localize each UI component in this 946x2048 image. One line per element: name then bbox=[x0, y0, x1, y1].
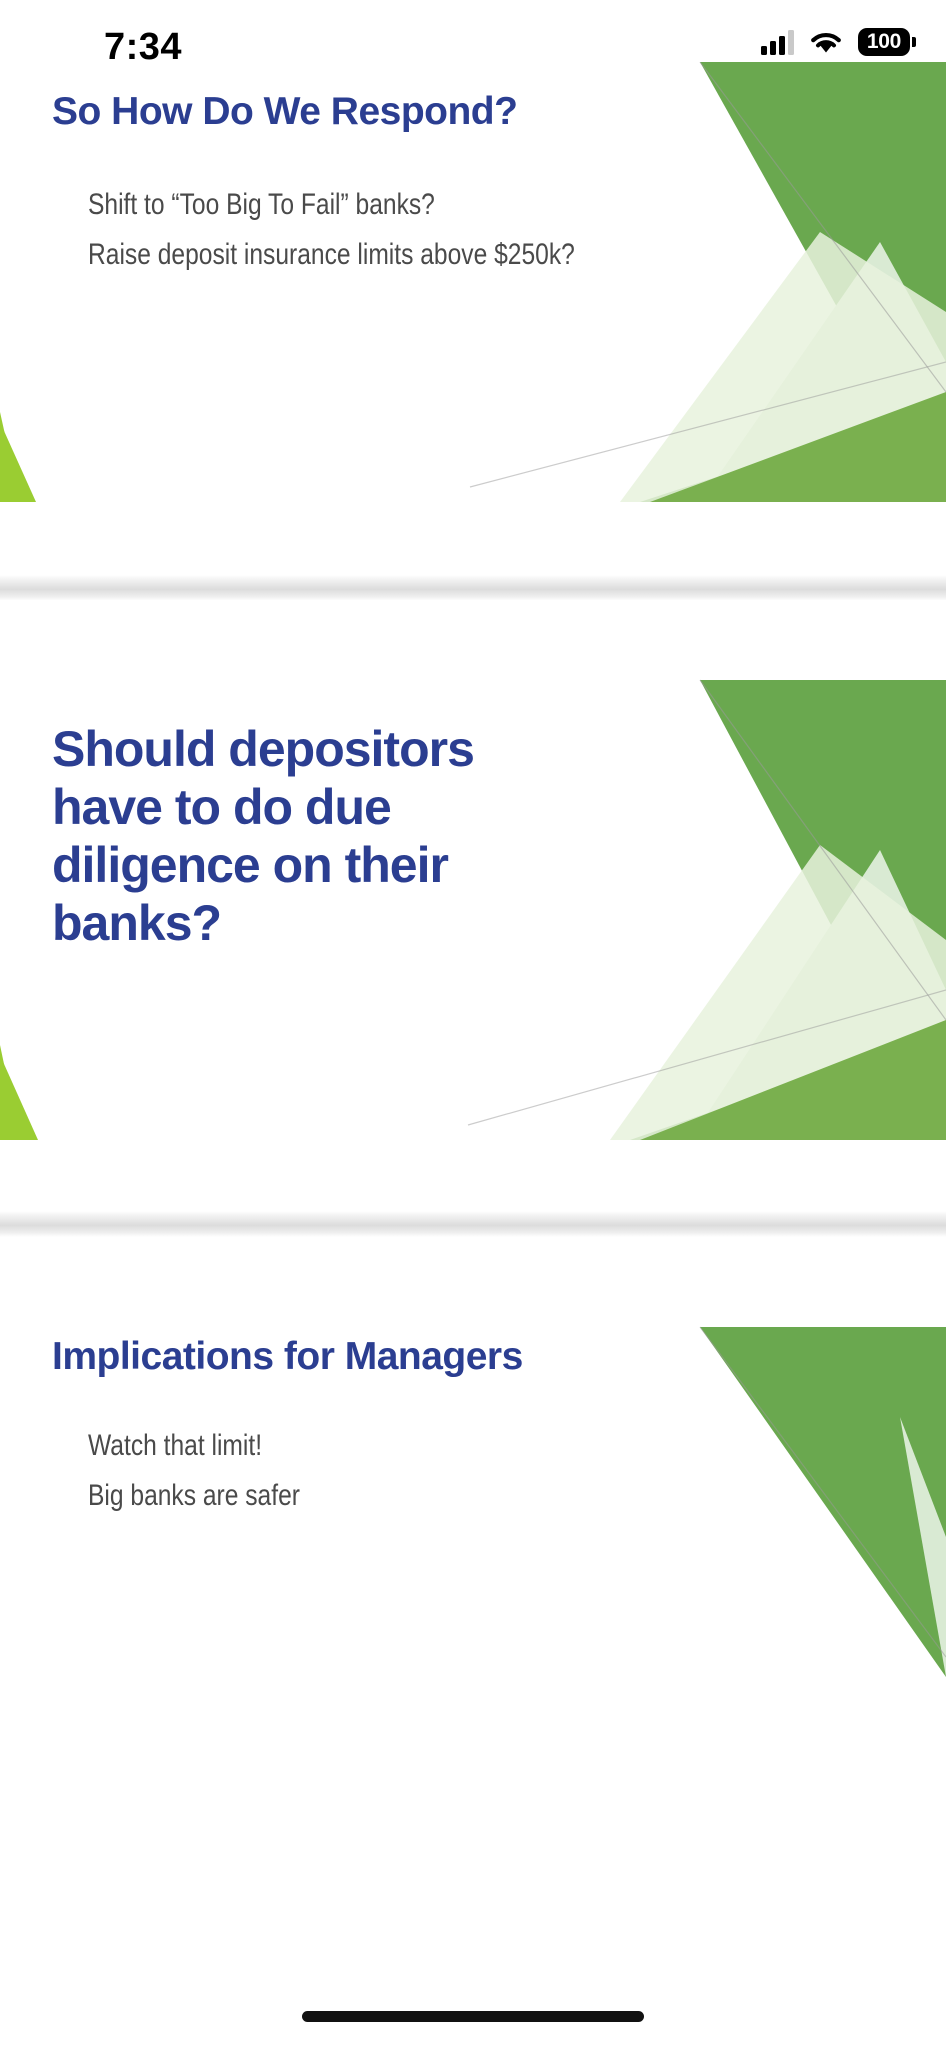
battery-icon: 100 bbox=[858, 28, 910, 56]
slide-1-bullet-2: Raise deposit insurance limits above $25… bbox=[88, 238, 682, 272]
status-time: 7:34 bbox=[104, 26, 182, 69]
slide-1-decoration bbox=[0, 62, 946, 575]
slide-3[interactable]: Implications for Managers Watch that lim… bbox=[0, 1237, 946, 1997]
wifi-icon bbox=[809, 29, 843, 55]
slide-1[interactable]: So How Do We Respond? Shift to “Too Big … bbox=[0, 62, 946, 575]
slide-3-bullet-1: Watch that limit! bbox=[88, 1429, 300, 1463]
slide-2-title: Should depositors have to do due diligen… bbox=[52, 720, 552, 952]
slide-1-bullet-1: Shift to “Too Big To Fail” banks? bbox=[88, 188, 511, 222]
green-geometry-svg bbox=[0, 62, 946, 575]
slide-2[interactable]: Should depositors have to do due diligen… bbox=[0, 600, 946, 1212]
phone-screen: So How Do We Respond? Shift to “Too Big … bbox=[0, 0, 946, 2048]
slide-3-bullet-2: Big banks are safer bbox=[88, 1479, 346, 1513]
battery-level-label: 100 bbox=[867, 30, 901, 54]
slide-separator-1 bbox=[0, 575, 946, 601]
home-indicator[interactable] bbox=[302, 2011, 644, 2022]
slide-3-title: Implications for Managers bbox=[52, 1335, 523, 1379]
status-bar: 7:34 100 bbox=[0, 0, 946, 86]
slide-separator-2 bbox=[0, 1211, 946, 1237]
slide-1-title: So How Do We Respond? bbox=[52, 90, 517, 134]
status-indicators: 100 bbox=[761, 28, 910, 56]
cellular-signal-icon bbox=[761, 29, 794, 55]
